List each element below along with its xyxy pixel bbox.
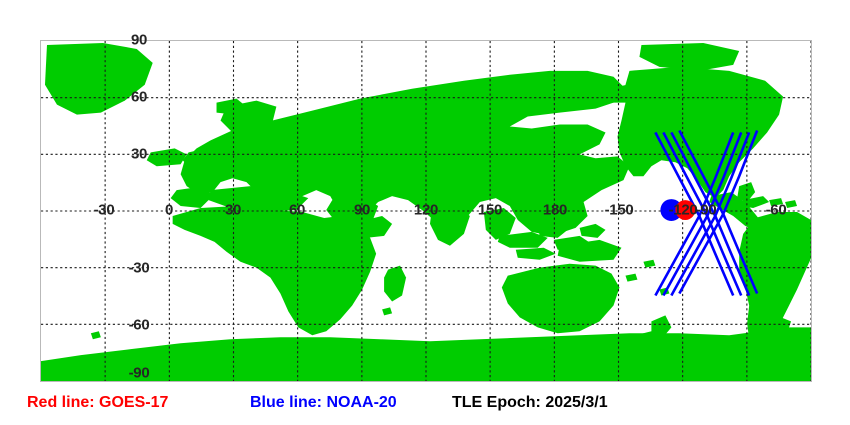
lon-label-180: 180: [543, 202, 567, 219]
legend-tle-epoch: TLE Epoch: 2025/3/1: [452, 392, 608, 414]
land-north-america: [618, 67, 784, 198]
land-madagascar: [384, 266, 406, 302]
lat-label-60: 60: [131, 89, 147, 106]
lat-label--90: -90: [129, 365, 150, 382]
lon-label--120: -120: [669, 202, 698, 219]
land-australia: [502, 264, 620, 334]
lat-label--60: -60: [129, 317, 150, 334]
lon-label--150: -150: [605, 202, 634, 219]
lat-label-30: 30: [131, 146, 147, 163]
land-arctic-islands: [639, 43, 739, 71]
lon-label-90: 90: [354, 202, 370, 219]
lon-label--90: -90: [696, 202, 717, 219]
lon-label--30: -30: [94, 202, 115, 219]
legend-noaa20: Blue line: NOAA-20: [250, 392, 397, 414]
lat-label-90: 90: [131, 32, 147, 49]
lat-label--30: -30: [129, 260, 150, 277]
land-antarctica: [41, 327, 811, 381]
land-iceland: [147, 148, 187, 166]
lon-label-150: 150: [478, 202, 502, 219]
lon-label-60: 60: [289, 202, 305, 219]
lon-label-30: 30: [225, 202, 241, 219]
satellite-ground-track-map: -30 0 30 60 90 120 150 180 -150 -120 -90…: [0, 0, 850, 425]
lon-label-120: 120: [414, 202, 438, 219]
lon-label--60: -60: [766, 202, 787, 219]
land-iberia: [171, 186, 213, 208]
legend-goes17: Red line: GOES-17: [27, 392, 168, 414]
land-africa: [173, 206, 376, 335]
legend: Red line: GOES-17 Blue line: NOAA-20 TLE…: [0, 392, 850, 425]
lon-label-0: 0: [165, 202, 173, 219]
